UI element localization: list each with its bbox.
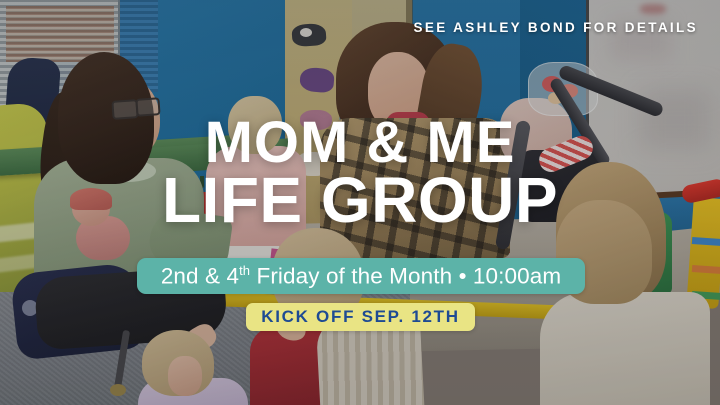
text-overlay: SEE ASHLEY BOND FOR DETAILS MOM & ME LIF…: [0, 0, 720, 405]
event-title-line-2: LIFE GROUP: [0, 171, 720, 230]
schedule-prefix: 2nd & 4: [161, 263, 239, 288]
event-title-line-1: MOM & ME: [0, 116, 720, 169]
schedule-banner: 2nd & 4th Friday of the Month • 10:00am: [137, 258, 585, 294]
event-promo-poster: SEE ASHLEY BOND FOR DETAILS MOM & ME LIF…: [0, 0, 720, 405]
details-kicker-text: SEE ASHLEY BOND FOR DETAILS: [414, 20, 698, 35]
schedule-ordinal-suffix: th: [239, 263, 250, 278]
kickoff-text: KICK OFF SEP. 12TH: [261, 307, 459, 327]
schedule-text: 2nd & 4th Friday of the Month • 10:00am: [161, 263, 561, 290]
schedule-suffix: Friday of the Month • 10:00am: [250, 263, 561, 288]
kickoff-banner: KICK OFF SEP. 12TH: [246, 303, 475, 331]
event-title-block: MOM & ME LIFE GROUP: [0, 116, 720, 230]
